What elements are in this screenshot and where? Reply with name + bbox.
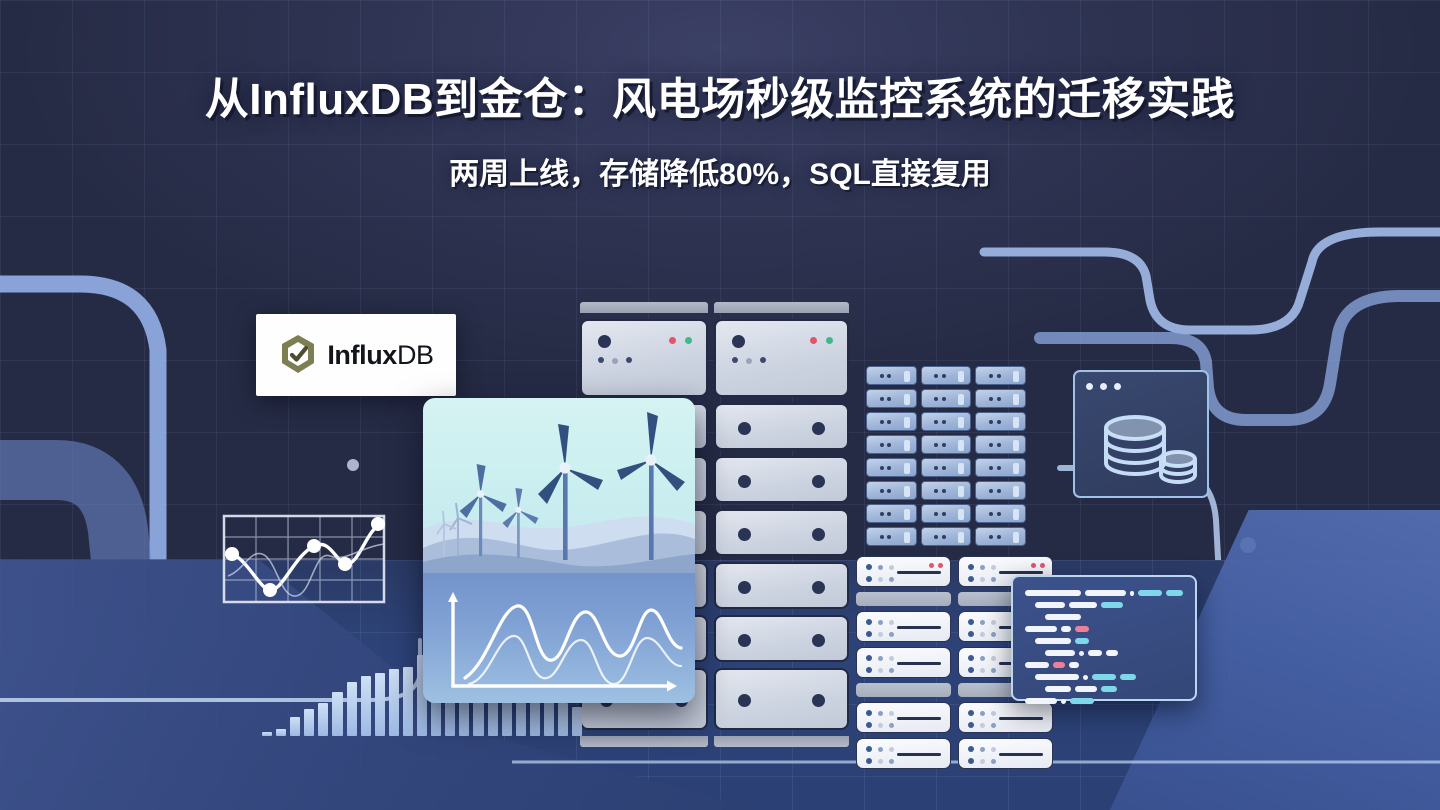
server-unit-small xyxy=(921,412,972,431)
white-server-unit xyxy=(856,702,951,733)
server-rack-right xyxy=(714,302,849,747)
server-unit xyxy=(714,509,849,556)
code-token xyxy=(1061,699,1066,704)
server-unit-small xyxy=(975,527,1026,546)
server-unit xyxy=(714,615,849,662)
bar xyxy=(347,682,357,736)
influxdb-logo-card: InfluxDB xyxy=(256,314,456,396)
code-token xyxy=(1035,674,1079,680)
code-token xyxy=(1138,590,1161,596)
code-line xyxy=(1025,614,1183,620)
white-server-unit xyxy=(856,611,951,642)
server-unit-small xyxy=(975,412,1026,431)
code-token xyxy=(1101,602,1123,608)
code-token xyxy=(1101,686,1117,692)
bar xyxy=(262,732,272,736)
influx-light: DB xyxy=(397,340,434,370)
bar xyxy=(558,703,568,736)
server-unit-small xyxy=(975,504,1026,523)
code-token xyxy=(1045,650,1075,656)
server-unit-small xyxy=(975,435,1026,454)
bar xyxy=(304,709,314,736)
code-token xyxy=(1045,614,1081,620)
code-token xyxy=(1088,650,1102,656)
bar xyxy=(389,669,399,736)
database-stack-icon xyxy=(1075,396,1211,496)
title-block: 从InfluxDB到金仓：风电场秒级监控系统的迁移实践 两周上线，存储降低80%… xyxy=(0,74,1440,193)
hexagon-check-icon xyxy=(278,333,318,377)
server-unit-small xyxy=(921,389,972,408)
code-line xyxy=(1025,674,1183,680)
page-title: 从InfluxDB到金仓：风电场秒级监控系统的迁移实践 xyxy=(0,74,1440,127)
rack-cap-top xyxy=(580,302,708,313)
bar xyxy=(361,676,371,736)
code-token xyxy=(1035,602,1065,608)
server-unit-small xyxy=(975,458,1026,477)
server-unit-small xyxy=(866,458,917,477)
server-unit xyxy=(714,456,849,503)
server-unit xyxy=(714,403,849,450)
influxdb-wordmark: InfluxDB xyxy=(327,340,433,371)
influx-bold: Influx xyxy=(327,340,397,370)
code-token xyxy=(1130,591,1135,596)
code-line xyxy=(1025,590,1183,596)
server-unit-small xyxy=(921,481,972,500)
server-shelf-divider xyxy=(856,683,951,697)
bar xyxy=(332,692,342,736)
code-token xyxy=(1075,626,1089,632)
server-unit-small xyxy=(866,504,917,523)
code-line xyxy=(1025,638,1183,644)
bar xyxy=(375,673,385,736)
bar xyxy=(572,707,582,736)
server-unit-small xyxy=(921,504,972,523)
code-token xyxy=(1025,698,1057,704)
white-server-unit xyxy=(856,647,951,678)
bar xyxy=(276,729,286,736)
code-token xyxy=(1035,638,1071,644)
server-unit xyxy=(714,562,849,609)
mini-grid-line-chart xyxy=(218,510,390,608)
code-line xyxy=(1025,650,1183,656)
server-unit-small xyxy=(921,458,972,477)
page-subtitle: 两周上线，存储降低80%，SQL直接复用 xyxy=(0,149,1440,193)
server-unit-small xyxy=(866,527,917,546)
code-token xyxy=(1070,698,1094,704)
server-unit-small xyxy=(866,389,917,408)
rack-cap-top xyxy=(714,302,849,313)
code-token xyxy=(1025,626,1057,632)
white-server-unit xyxy=(856,556,951,587)
code-token xyxy=(1092,674,1116,680)
server-shelf-divider xyxy=(856,592,951,606)
server-unit-small xyxy=(866,366,917,385)
code-line xyxy=(1025,602,1183,608)
poster-canvas: 从InfluxDB到金仓：风电场秒级监控系统的迁移实践 两周上线，存储降低80%… xyxy=(0,0,1440,810)
white-server-column xyxy=(856,556,951,769)
white-server-unit xyxy=(958,702,1053,733)
code-token xyxy=(1025,662,1049,668)
code-line xyxy=(1025,686,1183,692)
code-line xyxy=(1025,626,1183,632)
code-editor-window[interactable] xyxy=(1011,575,1197,701)
server-unit-small xyxy=(921,527,972,546)
window-dots xyxy=(1086,383,1121,390)
bar xyxy=(318,703,328,736)
server-unit xyxy=(580,319,708,397)
code-token xyxy=(1166,590,1183,596)
server-unit-grid xyxy=(866,366,1026,546)
code-token xyxy=(1069,662,1079,668)
server-unit-small xyxy=(975,481,1026,500)
database-window[interactable] xyxy=(1073,370,1209,498)
code-token xyxy=(1053,662,1065,668)
code-line xyxy=(1025,662,1183,668)
rack-cap-bottom xyxy=(714,736,849,747)
code-line xyxy=(1025,698,1183,704)
server-unit-small xyxy=(866,412,917,431)
server-unit-small xyxy=(921,366,972,385)
code-token xyxy=(1075,638,1089,644)
white-server-unit xyxy=(856,738,951,769)
server-unit-small xyxy=(975,366,1026,385)
code-token xyxy=(1106,650,1118,656)
rack-cap-bottom xyxy=(580,736,708,747)
code-token xyxy=(1079,651,1084,656)
server-unit xyxy=(714,319,849,397)
code-token xyxy=(1025,590,1081,596)
code-token xyxy=(1061,626,1071,632)
code-token xyxy=(1085,590,1126,596)
code-token xyxy=(1045,686,1071,692)
wind-farm-illustration xyxy=(423,398,695,703)
code-token xyxy=(1083,675,1088,680)
server-unit-small xyxy=(866,481,917,500)
bar xyxy=(403,667,413,736)
code-token xyxy=(1075,686,1097,692)
bar xyxy=(290,717,300,736)
server-unit-small xyxy=(866,435,917,454)
white-server-unit xyxy=(958,738,1053,769)
code-token xyxy=(1120,674,1136,680)
code-token xyxy=(1069,602,1097,608)
server-unit-small xyxy=(921,435,972,454)
server-unit-small xyxy=(975,389,1026,408)
server-unit xyxy=(714,668,849,730)
